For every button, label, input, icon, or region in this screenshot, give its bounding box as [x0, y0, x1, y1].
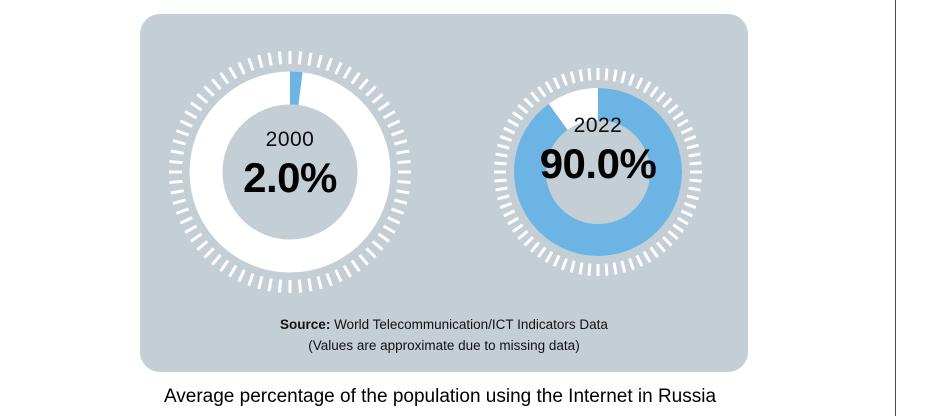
page-edge-divider [895, 0, 896, 416]
donut-chart-2022: 2022 90.0% [482, 22, 714, 322]
source-block: Source: World Telecommunication/ICT Indi… [140, 315, 748, 357]
donut-chart-2000: 2000 2.0% [170, 22, 410, 322]
source-note: (Values are approximate due to missing d… [140, 336, 748, 357]
source-label: Source: [280, 317, 330, 332]
donut-2022-value-arc [530, 104, 666, 240]
donut-2000-svg [170, 22, 410, 322]
donut-2000-track [206, 88, 374, 256]
donut-2022-svg [482, 22, 714, 322]
source-text: World Telecommunication/ICT Indicators D… [330, 317, 608, 332]
infographic-root: 2000 2.0% 2022 90.0% Source: World Telec… [0, 0, 934, 416]
chart-caption: Average percentage of the population usi… [0, 386, 880, 408]
source-line-primary: Source: World Telecommunication/ICT Indi… [140, 315, 748, 336]
